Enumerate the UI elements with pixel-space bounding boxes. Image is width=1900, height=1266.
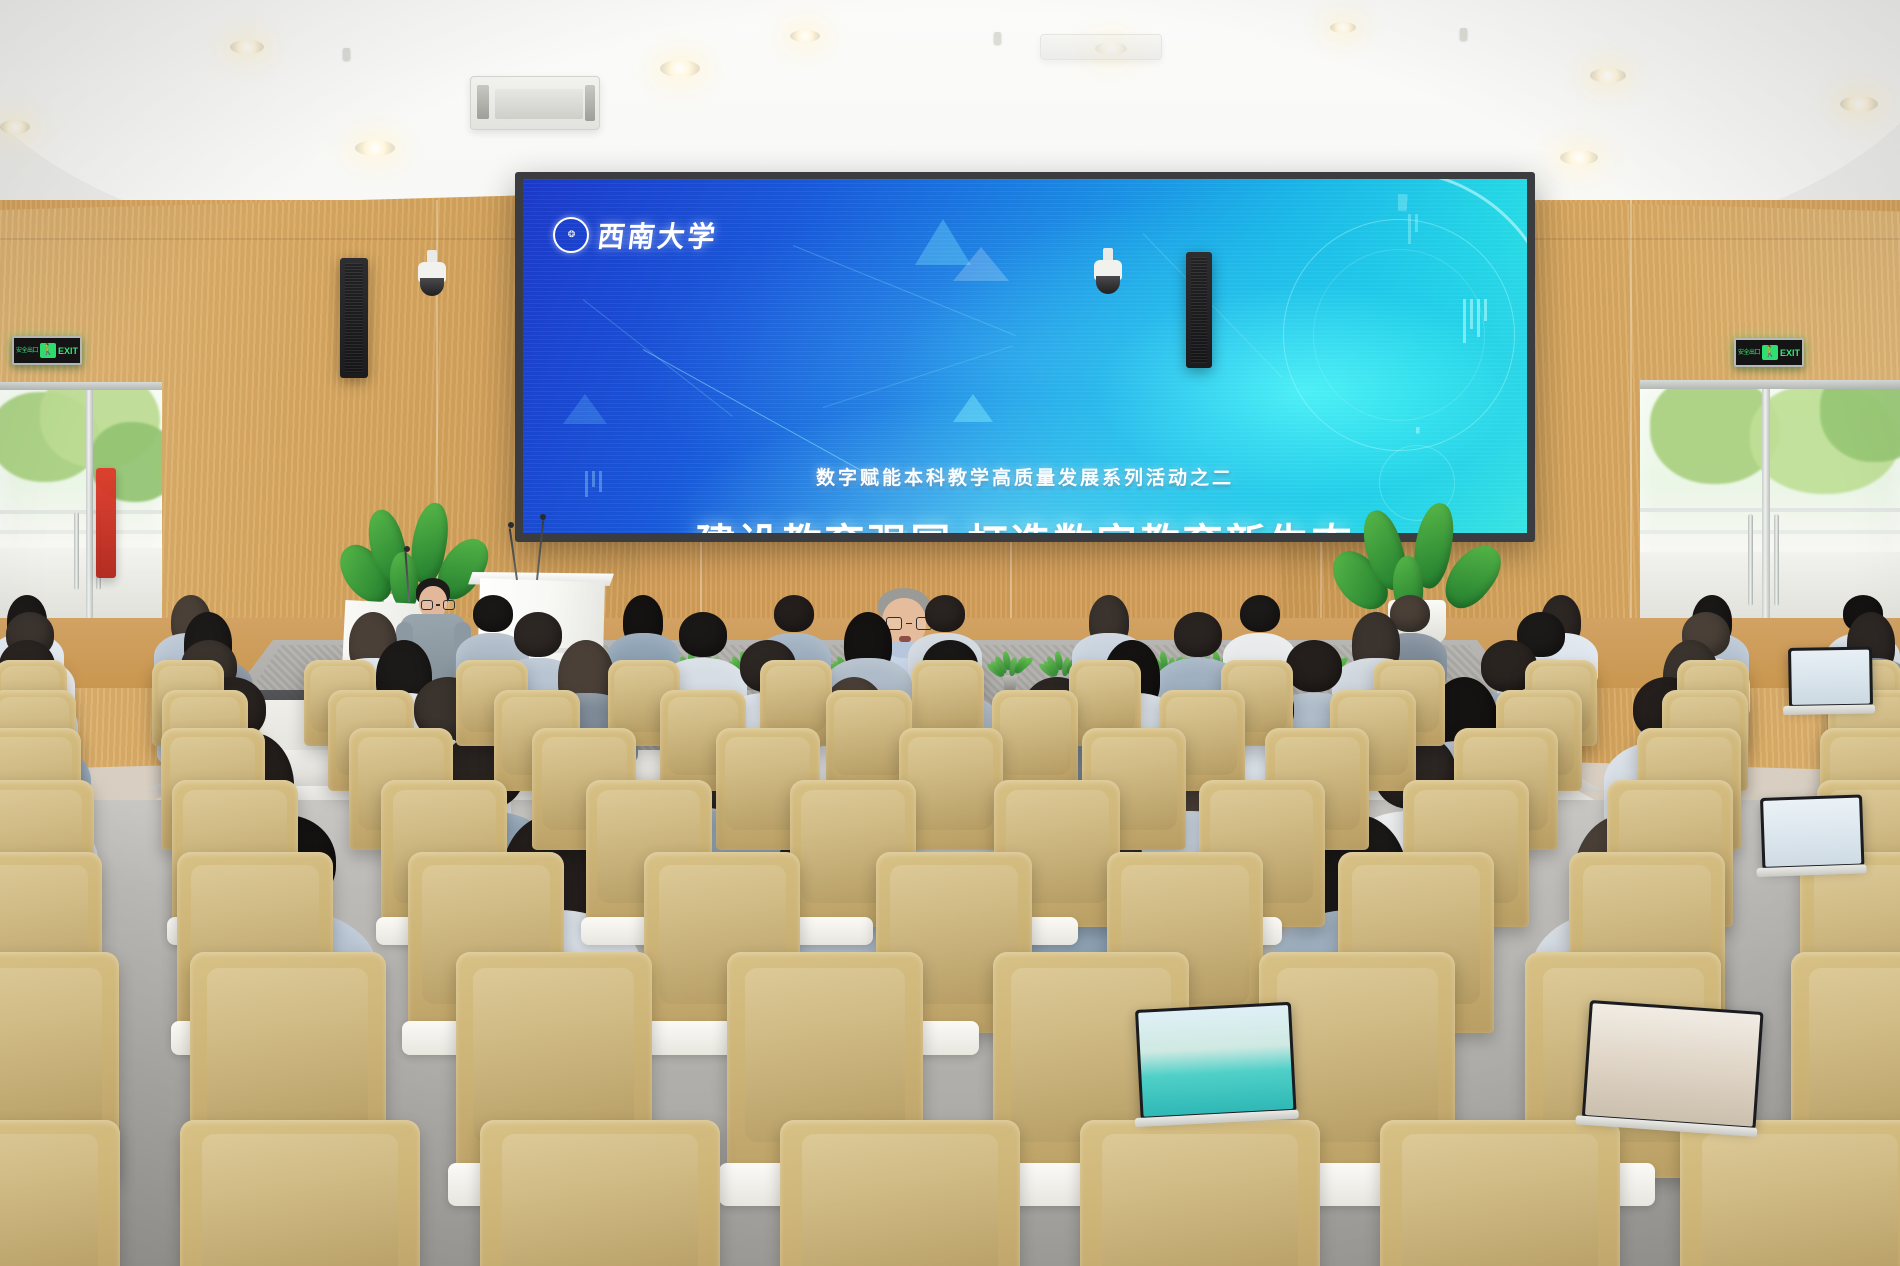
slide-decor-triangle [953, 394, 993, 422]
ceiling-downlight [1840, 96, 1878, 112]
exit-sign-left: 安全出口 🚶 EXIT [12, 336, 82, 365]
laptop-wallpaper [1791, 650, 1870, 705]
slide-decor-bars [1408, 214, 1418, 244]
laptop-keyboard-base[interactable] [1783, 704, 1875, 715]
glasses-icon [421, 600, 455, 610]
ceiling-downlight [1330, 22, 1356, 33]
slide-decor-bars [1463, 299, 1487, 343]
slide-university-logo: ❂ 西南大学 [553, 215, 718, 254]
ptz-camera [1094, 248, 1122, 298]
hair [1174, 612, 1222, 656]
sprinkler-head [1460, 28, 1467, 40]
microphone-capsule [508, 522, 514, 528]
wall-panel-seam [1630, 200, 1632, 620]
slide-decor-triangle [953, 247, 1009, 281]
exit-sign-right: 安全出口 🚶 EXIT [1734, 338, 1804, 367]
wall-loudspeaker [1186, 252, 1212, 368]
laptop-screen[interactable] [1760, 794, 1864, 870]
auditorium-seat[interactable] [1080, 1120, 1320, 1266]
hvac-ceiling-cassette [1040, 34, 1162, 60]
running-person-icon: 🚶 [1762, 345, 1778, 360]
exit-sign-english-label: EXIT [58, 346, 78, 356]
ceiling-downlight [355, 140, 395, 156]
hair [514, 612, 562, 656]
university-seal-icon: ❂ [553, 217, 589, 253]
auditorium-seat[interactable] [992, 690, 1078, 791]
hair [1240, 595, 1280, 632]
hair [774, 595, 814, 632]
hvac-ceiling-cassette [470, 76, 600, 130]
hair [925, 595, 965, 632]
potted-plant [993, 646, 1027, 690]
ptz-camera [418, 250, 446, 300]
hair [473, 595, 513, 632]
slide-decor-triangle [563, 394, 607, 424]
auditorium-seat[interactable] [480, 1120, 720, 1266]
auditorium-photo: ❂ 西南大学 数字赋能本科教学高质量发展系列活动之二 建设教育强国 打造数字教育… [0, 0, 1900, 1266]
laptop-wallpaper [1585, 1003, 1760, 1126]
laptop-screen[interactable] [1788, 647, 1873, 708]
ceiling-downlight [790, 30, 820, 42]
sprinkler-head [343, 48, 350, 60]
ceiling-downlight [230, 40, 264, 54]
audience-member [679, 612, 727, 698]
auditorium-seat[interactable] [180, 1120, 420, 1266]
ceiling-downlight [660, 60, 700, 77]
ceiling-downlight [1590, 68, 1626, 83]
hair [1286, 640, 1342, 692]
presentation-screen[interactable]: ❂ 西南大学 数字赋能本科教学高质量发展系列活动之二 建设教育强国 打造数字教育… [523, 179, 1527, 533]
running-person-icon: 🚶 [40, 343, 56, 358]
wall-loudspeaker [340, 258, 368, 378]
microphone-capsule [404, 546, 410, 552]
audience-member [473, 595, 513, 669]
exit-sign-english-label: EXIT [1780, 348, 1800, 358]
hair [679, 612, 727, 656]
audience-member [1174, 612, 1222, 698]
auditorium-seat[interactable] [1680, 1120, 1900, 1266]
auditorium-seat[interactable] [0, 1120, 120, 1266]
slide-university-name: 西南大学 [595, 214, 720, 255]
laptop-screen[interactable] [1135, 1002, 1297, 1120]
sprinkler-head [994, 32, 1001, 44]
ceiling-downlight [0, 120, 30, 134]
laptop-screen[interactable] [1582, 1000, 1764, 1130]
ceiling-downlight [1560, 150, 1598, 165]
laptop-wallpaper [1763, 798, 1861, 867]
microphone-capsule [540, 514, 546, 520]
slide-subtitle: 数字赋能本科教学高质量发展系列活动之二 [523, 463, 1527, 490]
exit-sign-chinese-label: 安全出口 [1738, 350, 1760, 356]
audience-member [1240, 595, 1280, 669]
exit-sign-chinese-label: 安全出口 [16, 348, 38, 354]
audience-member [623, 595, 663, 669]
auditorium-seat[interactable] [780, 1120, 1020, 1266]
auditorium-seat[interactable] [1380, 1120, 1620, 1266]
laptop-wallpaper [1138, 1005, 1293, 1117]
red-wall-banner [96, 468, 116, 578]
seal-glyph: ❂ [568, 229, 575, 240]
